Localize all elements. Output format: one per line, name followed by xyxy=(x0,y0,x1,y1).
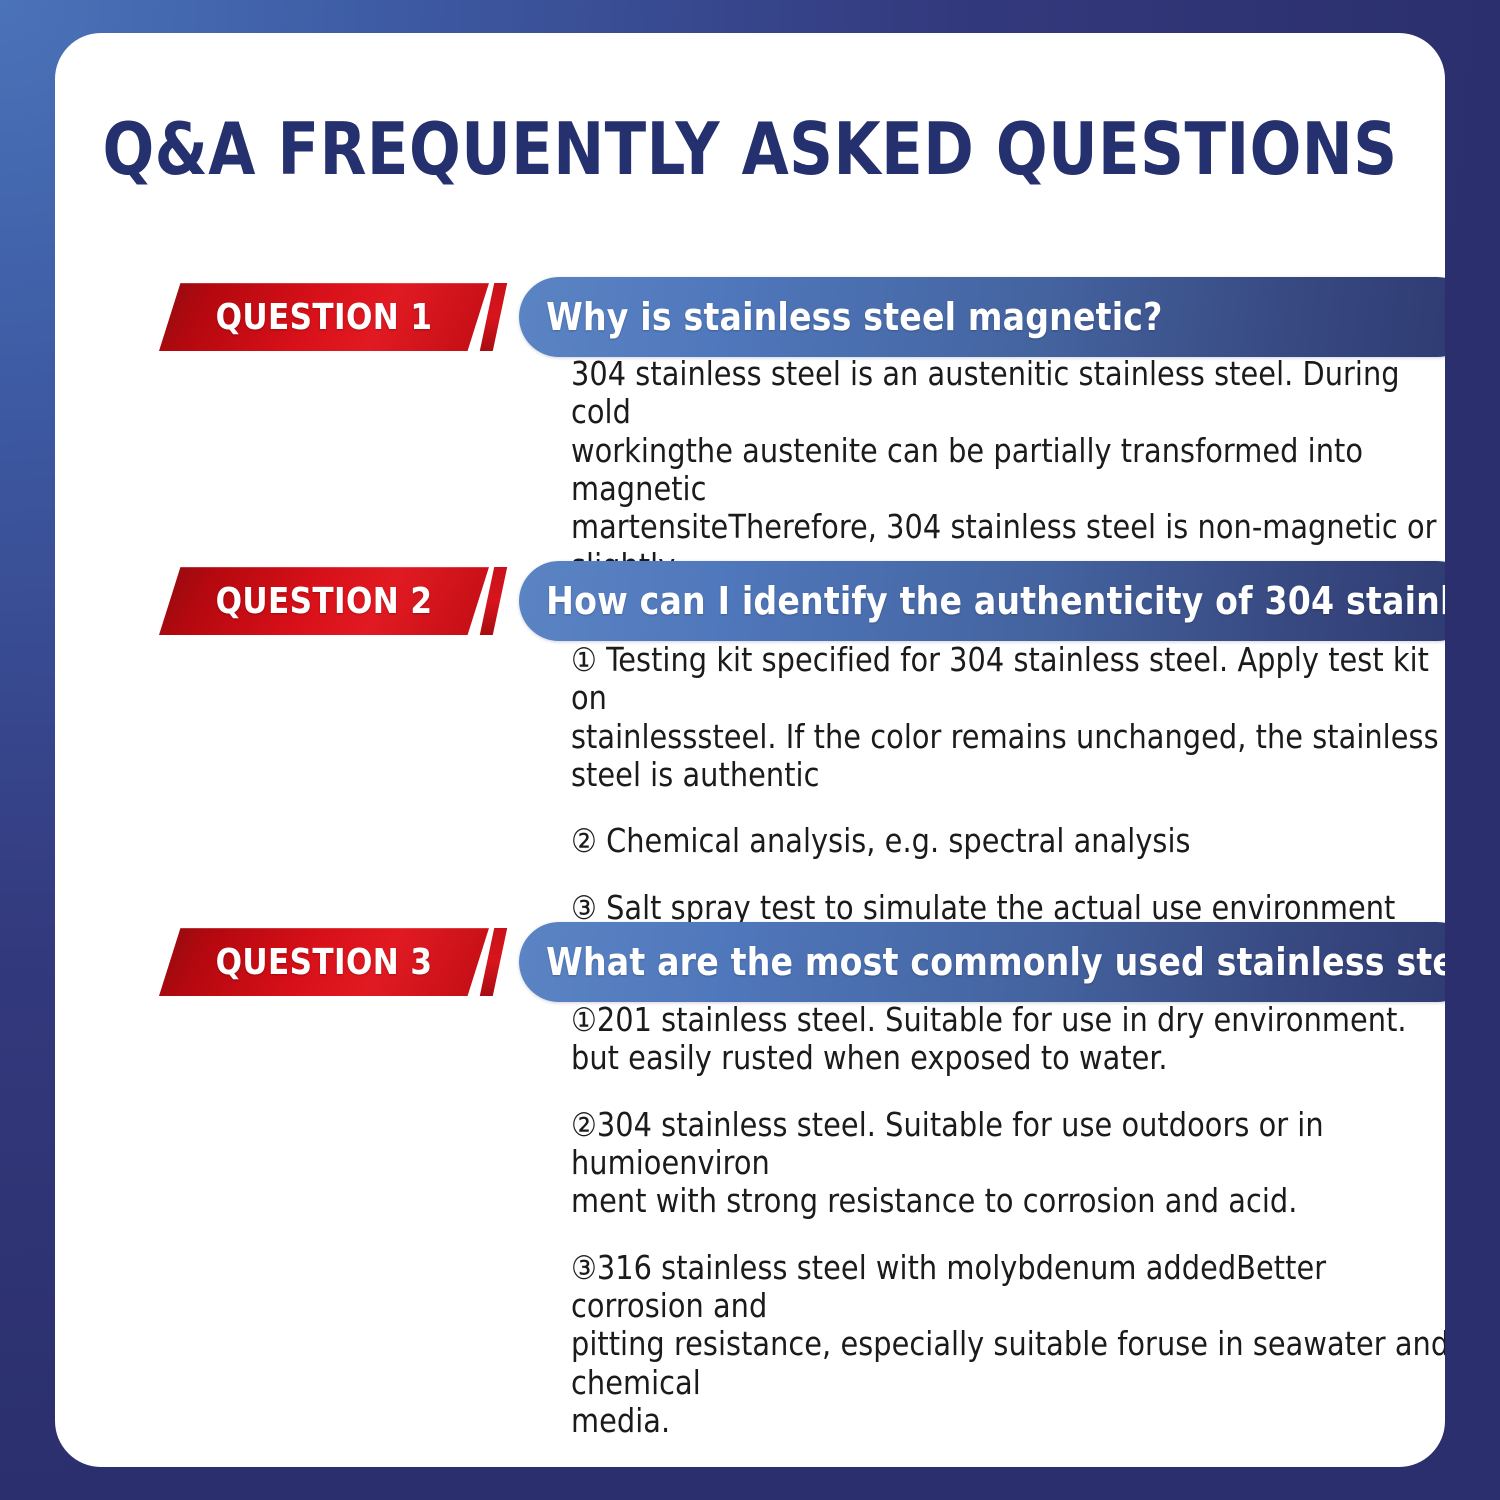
question-text-1: Why is stainless steel magnetic? xyxy=(519,295,1163,339)
question-badge-label-2: QUESTION 2 xyxy=(166,567,483,635)
question-badge-label-3: QUESTION 3 xyxy=(166,928,483,996)
question-row-1: QUESTION 1 Why is stainless steel magnet… xyxy=(55,277,1445,355)
answer-paragraph: ② Chemical analysis, e.g. spectral analy… xyxy=(571,822,1445,860)
question-badge-3: QUESTION 3 xyxy=(159,928,489,996)
question-pill-3[interactable]: What are the most commonly used stainles… xyxy=(519,922,1445,1002)
question-badge-1: QUESTION 1 xyxy=(159,283,489,351)
answer-paragraph: ③316 stainless steel with molybdenum add… xyxy=(571,1249,1445,1441)
content-card: Q&A FREQUENTLY ASKED QUESTIONS QUESTION … xyxy=(55,33,1445,1467)
question-row-3: QUESTION 3 What are the most commonly us… xyxy=(55,922,1445,1000)
faq-infographic: Q&A FREQUENTLY ASKED QUESTIONS QUESTION … xyxy=(0,0,1500,1500)
answer-paragraph: ②304 stainless steel. Suitable for use o… xyxy=(571,1106,1445,1221)
answer-block-2: ① Testing kit specified for 304 stainles… xyxy=(571,641,1445,927)
question-text-2: How can I identify the authenticity of 3… xyxy=(519,579,1445,623)
answer-paragraph: ① Testing kit specified for 304 stainles… xyxy=(571,641,1445,794)
question-row-2: QUESTION 2 How can I identify the authen… xyxy=(55,561,1445,639)
question-pill-2[interactable]: How can I identify the authenticity of 3… xyxy=(519,561,1445,641)
question-badge-label-1: QUESTION 1 xyxy=(166,283,483,351)
answer-paragraph: ①201 stainless steel. Suitable for use i… xyxy=(571,1001,1445,1078)
question-pill-1[interactable]: Why is stainless steel magnetic? xyxy=(519,277,1445,357)
answer-block-3: ①201 stainless steel. Suitable for use i… xyxy=(571,1001,1445,1467)
question-badge-2: QUESTION 2 xyxy=(159,567,489,635)
question-text-3: What are the most commonly used stainles… xyxy=(519,940,1445,984)
page-title: Q&A FREQUENTLY ASKED QUESTIONS xyxy=(97,113,1404,185)
